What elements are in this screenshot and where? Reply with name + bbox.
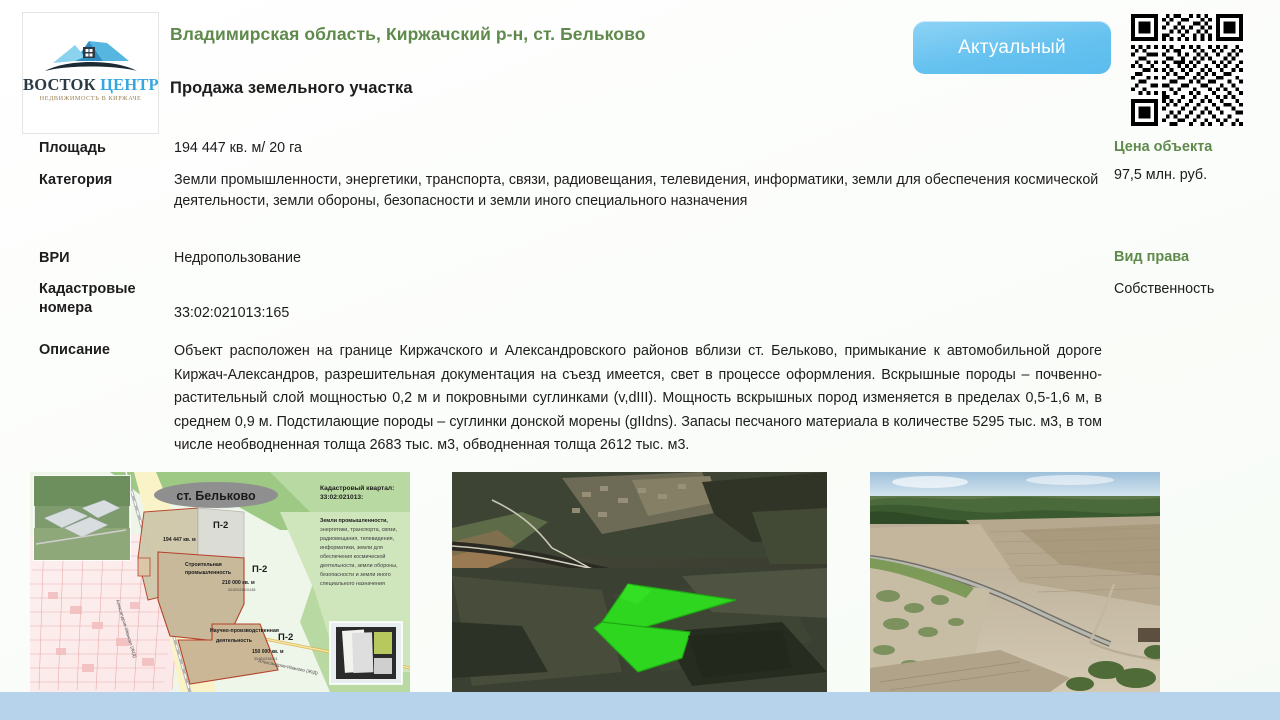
drone-field-graphic (870, 472, 1160, 692)
logo-wordmark: ВОСТОК ЦЕНТР (23, 75, 158, 95)
drone-field-image[interactable] (870, 472, 1160, 692)
page-title: Продажа земельного участка (170, 79, 413, 98)
qr-code-icon[interactable] (1131, 14, 1243, 126)
status-badge[interactable]: Актуальный (913, 21, 1111, 74)
svg-text:Земли промышленности,: Земли промышленности, (320, 518, 388, 524)
station-label-pill: ст. Бельково (154, 482, 278, 508)
satellite-aerial-graphic (452, 472, 827, 692)
value-description: Объект расположен на границе Киржачского… (174, 340, 1102, 458)
logo-tagline: НЕДВИЖИМОСТЬ В КИРЖАЧЕ (23, 95, 158, 102)
svg-text:210 000 кв. м: 210 000 кв. м (222, 580, 255, 586)
value-area: 194 447 кв. м/ 20 га (174, 138, 302, 159)
svg-text:информатики, земли для: информатики, земли для (320, 545, 383, 551)
svg-text:специального назначения: специального назначения (320, 581, 385, 587)
label-description: Описание (39, 341, 110, 360)
map-inset-document (330, 622, 402, 684)
svg-text:промышленность: промышленность (185, 570, 231, 576)
svg-text:33:02:021013:163: 33:02:021013:163 (228, 588, 255, 592)
house-roof-icon (39, 35, 143, 75)
value-ownership-type: Собственность (1114, 281, 1214, 297)
svg-text:энергетики, транспорта, связи,: энергетики, транспорта, связи, (320, 527, 397, 533)
svg-text:П-2: П-2 (213, 520, 228, 531)
svg-text:П-2: П-2 (278, 632, 293, 643)
svg-text:Кадастровый квартал:: Кадастровый квартал: (320, 484, 394, 492)
svg-text:безопасности и земли иного: безопасности и земли иного (320, 572, 391, 578)
svg-text:Строительная: Строительная (185, 562, 222, 568)
svg-text:П-2: П-2 (252, 564, 267, 575)
svg-text:ст. Бельково: ст. Бельково (176, 489, 256, 503)
value-price: 97,5 млн. руб. (1114, 167, 1207, 183)
svg-text:33:02:021013:: 33:02:021013: (320, 494, 363, 501)
qr-code-matrix (1131, 14, 1243, 126)
svg-text:обеспечения космической: обеспечения космической (320, 553, 385, 560)
svg-text:деятельность: деятельность (216, 638, 252, 644)
svg-text:деятельности, земли обороны,: деятельности, земли обороны, (320, 563, 398, 569)
svg-text:Научно-производственная: Научно-производственная (210, 628, 279, 634)
svg-text:150 000 кв. м: 150 000 кв. м (252, 649, 284, 655)
satellite-aerial-image[interactable] (452, 472, 827, 692)
page-location: Владимирская область, Киржачский р-н, ст… (170, 24, 646, 45)
cadastral-map-graphic: ст. Бельково Кадастровый квартал: 33:02:… (30, 472, 410, 692)
label-area: Площадь (39, 139, 106, 158)
map-inset-warehouse (34, 476, 130, 560)
label-ownership-type: Вид права (1114, 249, 1189, 265)
label-vri: ВРИ (39, 249, 70, 268)
svg-text:радиовещания, телевидения,: радиовещания, телевидения, (320, 536, 395, 542)
value-cadastral-numbers: 33:02:021013:165 (174, 303, 289, 324)
company-logo: ВОСТОК ЦЕНТР НЕДВИЖИМОСТЬ В КИРЖАЧЕ (22, 12, 159, 134)
label-cadastral-numbers: Кадастровые номера (39, 280, 159, 318)
label-price: Цена объекта (1114, 139, 1212, 155)
logo-word-1: ВОСТОК (23, 75, 96, 94)
status-badge-label: Актуальный (958, 37, 1066, 59)
value-category: Земли промышленности, энергетики, трансп… (174, 170, 1102, 212)
bottom-band (0, 692, 1280, 720)
logo-word-2: ЦЕНТР (100, 75, 159, 94)
cadastral-map-image[interactable]: ст. Бельково Кадастровый квартал: 33:02:… (30, 472, 410, 692)
label-category: Категория (39, 171, 112, 190)
svg-text:194 447 кв. м: 194 447 кв. м (163, 537, 196, 543)
slide-root: ВОСТОК ЦЕНТР НЕДВИЖИМОСТЬ В КИРЖАЧЕ Влад… (0, 0, 1280, 720)
value-vri: Недропользование (174, 248, 301, 269)
